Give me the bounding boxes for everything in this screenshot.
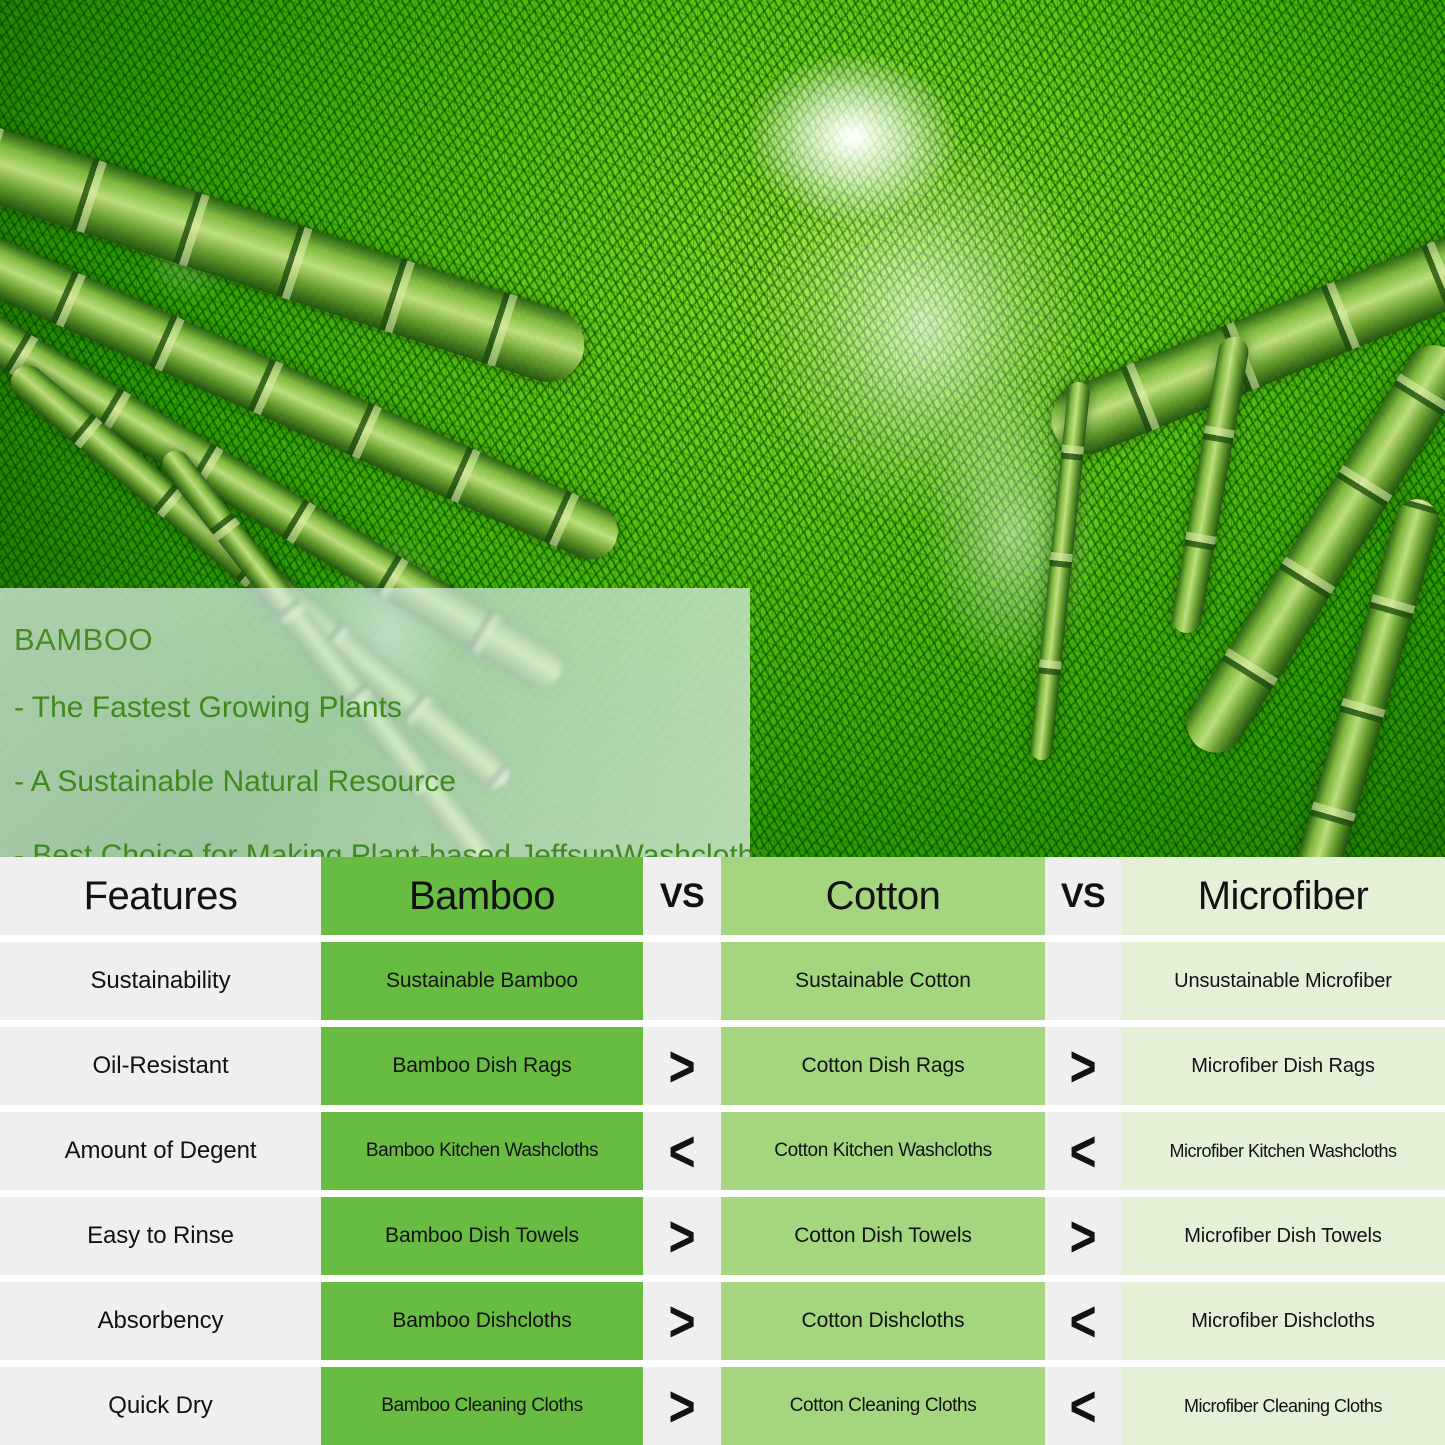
- overlay-bullet-2: - A Sustainable Natural Resource: [14, 767, 750, 797]
- row-bamboo-label: Bamboo Dish Towels: [381, 1224, 583, 1248]
- bamboo-forest-hero-image: BAMBOO - The Fastest Growing Plants - A …: [0, 0, 1445, 857]
- row-compare-cell-1: >: [643, 1027, 721, 1105]
- row-feature-label: Absorbency: [94, 1307, 228, 1335]
- row-cotton-cell: Cotton Dish Rags: [721, 1027, 1045, 1105]
- row-bamboo-label: Bamboo Kitchen Washcloths: [362, 1140, 602, 1162]
- table-row: Easy to Rinse Bamboo Dish Towels > Cotto…: [0, 1190, 1445, 1275]
- row-compare-cell-1: >: [643, 1282, 721, 1360]
- overlay-title: BAMBOO: [14, 624, 750, 655]
- row-bamboo-label: Bamboo Cleaning Cloths: [377, 1395, 586, 1417]
- row-feature-label: Sustainability: [86, 967, 234, 995]
- row-bamboo-cell: Bamboo Dish Rags: [321, 1027, 643, 1105]
- row-compare-cell-1: >: [643, 1197, 721, 1275]
- row-compare-cell-1: [643, 942, 721, 1020]
- row-cotton-cell: Cotton Kitchen Washcloths: [721, 1112, 1045, 1190]
- table-row: Sustainability Sustainable Bamboo Sustai…: [0, 935, 1445, 1020]
- row-microfiber-label: Microfiber Dish Rags: [1187, 1055, 1379, 1078]
- row-microfiber-cell: Microfiber Cleaning Cloths: [1121, 1367, 1445, 1445]
- row-microfiber-label: Unsustainable Microfiber: [1170, 970, 1396, 993]
- row-compare-cell-2: >: [1045, 1197, 1121, 1275]
- row-microfiber-label: Microfiber Dish Towels: [1180, 1225, 1386, 1248]
- vs-label-2: VS: [1057, 877, 1109, 916]
- row-cotton-label: Cotton Dish Towels: [790, 1224, 976, 1248]
- row-bamboo-label: Bamboo Dish Rags: [388, 1054, 575, 1078]
- row-microfiber-label: Microfiber Dishcloths: [1187, 1310, 1379, 1333]
- row-cotton-cell: Cotton Cleaning Cloths: [721, 1367, 1045, 1445]
- row-cotton-label: Cotton Cleaning Cloths: [786, 1395, 981, 1417]
- comparison-symbol-1: >: [669, 1207, 696, 1265]
- overlay-bullet-3: - Best Choice for Making Plant-based Jef…: [14, 841, 750, 857]
- row-cotton-label: Cotton Kitchen Washcloths: [770, 1140, 995, 1162]
- row-bamboo-cell: Sustainable Bamboo: [321, 942, 643, 1020]
- material-comparison-table: Features Bamboo VS Cotton VS Microfiber …: [0, 857, 1445, 1445]
- comparison-symbol-2: >: [1070, 1037, 1097, 1095]
- row-compare-cell-1: <: [643, 1112, 721, 1190]
- row-bamboo-cell: Bamboo Dish Towels: [321, 1197, 643, 1275]
- header-label-features: Features: [80, 874, 242, 919]
- row-cotton-cell: Sustainable Cotton: [721, 942, 1045, 1020]
- overlay-bullet-1: - The Fastest Growing Plants: [14, 693, 750, 723]
- row-feature-cell: Quick Dry: [0, 1367, 321, 1445]
- comparison-symbol-1: <: [669, 1122, 696, 1180]
- header-label-microfiber: Microfiber: [1194, 874, 1373, 919]
- row-feature-label: Quick Dry: [104, 1392, 216, 1420]
- comparison-symbol-1: >: [669, 1292, 696, 1350]
- comparison-symbol-2: <: [1070, 1122, 1097, 1180]
- row-microfiber-cell: Microfiber Dish Rags: [1121, 1027, 1445, 1105]
- comparison-symbol-2: >: [1070, 1207, 1097, 1265]
- row-feature-cell: Amount of Degent: [0, 1112, 321, 1190]
- header-cell-bamboo: Bamboo: [321, 857, 643, 935]
- row-feature-cell: Absorbency: [0, 1282, 321, 1360]
- row-feature-label: Easy to Rinse: [83, 1222, 238, 1250]
- row-feature-label: Amount of Degent: [61, 1137, 261, 1165]
- row-feature-label: Oil-Resistant: [88, 1052, 232, 1080]
- table-row: Absorbency Bamboo Dishcloths > Cotton Di…: [0, 1275, 1445, 1360]
- row-bamboo-cell: Bamboo Cleaning Cloths: [321, 1367, 643, 1445]
- row-cotton-label: Cotton Dishcloths: [798, 1309, 969, 1333]
- comparison-symbol-2: <: [1070, 1377, 1097, 1435]
- comparison-symbol-1: >: [669, 1377, 696, 1435]
- header-label-cotton: Cotton: [822, 874, 945, 919]
- table-row: Oil-Resistant Bamboo Dish Rags > Cotton …: [0, 1020, 1445, 1105]
- product-infographic-page: BAMBOO - The Fastest Growing Plants - A …: [0, 0, 1445, 1445]
- row-bamboo-cell: Bamboo Dishcloths: [321, 1282, 643, 1360]
- row-bamboo-label: Bamboo Dishcloths: [388, 1309, 575, 1333]
- row-microfiber-cell: Microfiber Dishcloths: [1121, 1282, 1445, 1360]
- comparison-symbol-1: >: [669, 1037, 696, 1095]
- bamboo-benefits-overlay-panel: BAMBOO - The Fastest Growing Plants - A …: [0, 588, 750, 857]
- table-row: Amount of Degent Bamboo Kitchen Washclot…: [0, 1105, 1445, 1190]
- row-feature-cell: Easy to Rinse: [0, 1197, 321, 1275]
- header-cell-microfiber: Microfiber: [1121, 857, 1445, 935]
- row-compare-cell-2: [1045, 942, 1121, 1020]
- row-compare-cell-2: <: [1045, 1112, 1121, 1190]
- row-feature-cell: Sustainability: [0, 942, 321, 1020]
- row-microfiber-cell: Microfiber Dish Towels: [1121, 1197, 1445, 1275]
- table-row: Quick Dry Bamboo Cleaning Cloths > Cotto…: [0, 1360, 1445, 1445]
- row-microfiber-cell: Microfiber Kitchen Washcloths: [1121, 1112, 1445, 1190]
- header-cell-features: Features: [0, 857, 321, 935]
- row-cotton-label: Cotton Dish Rags: [798, 1054, 969, 1078]
- row-microfiber-label: Microfiber Kitchen Washcloths: [1166, 1141, 1401, 1162]
- vs-label-1: VS: [656, 877, 708, 916]
- row-compare-cell-2: <: [1045, 1282, 1121, 1360]
- row-cotton-label: Sustainable Cotton: [791, 969, 975, 993]
- row-compare-cell-2: >: [1045, 1027, 1121, 1105]
- header-label-bamboo: Bamboo: [405, 874, 559, 919]
- row-feature-cell: Oil-Resistant: [0, 1027, 321, 1105]
- row-microfiber-cell: Unsustainable Microfiber: [1121, 942, 1445, 1020]
- row-cotton-cell: Cotton Dishcloths: [721, 1282, 1045, 1360]
- row-microfiber-label: Microfiber Cleaning Cloths: [1180, 1396, 1386, 1417]
- header-cell-vs-1: VS: [643, 857, 721, 935]
- row-compare-cell-2: <: [1045, 1367, 1121, 1445]
- header-cell-vs-2: VS: [1045, 857, 1121, 935]
- comparison-symbol-2: <: [1070, 1292, 1097, 1350]
- table-header-row: Features Bamboo VS Cotton VS Microfiber: [0, 857, 1445, 935]
- row-compare-cell-1: >: [643, 1367, 721, 1445]
- row-cotton-cell: Cotton Dish Towels: [721, 1197, 1045, 1275]
- row-bamboo-cell: Bamboo Kitchen Washcloths: [321, 1112, 643, 1190]
- row-bamboo-label: Sustainable Bamboo: [382, 969, 582, 993]
- header-cell-cotton: Cotton: [721, 857, 1045, 935]
